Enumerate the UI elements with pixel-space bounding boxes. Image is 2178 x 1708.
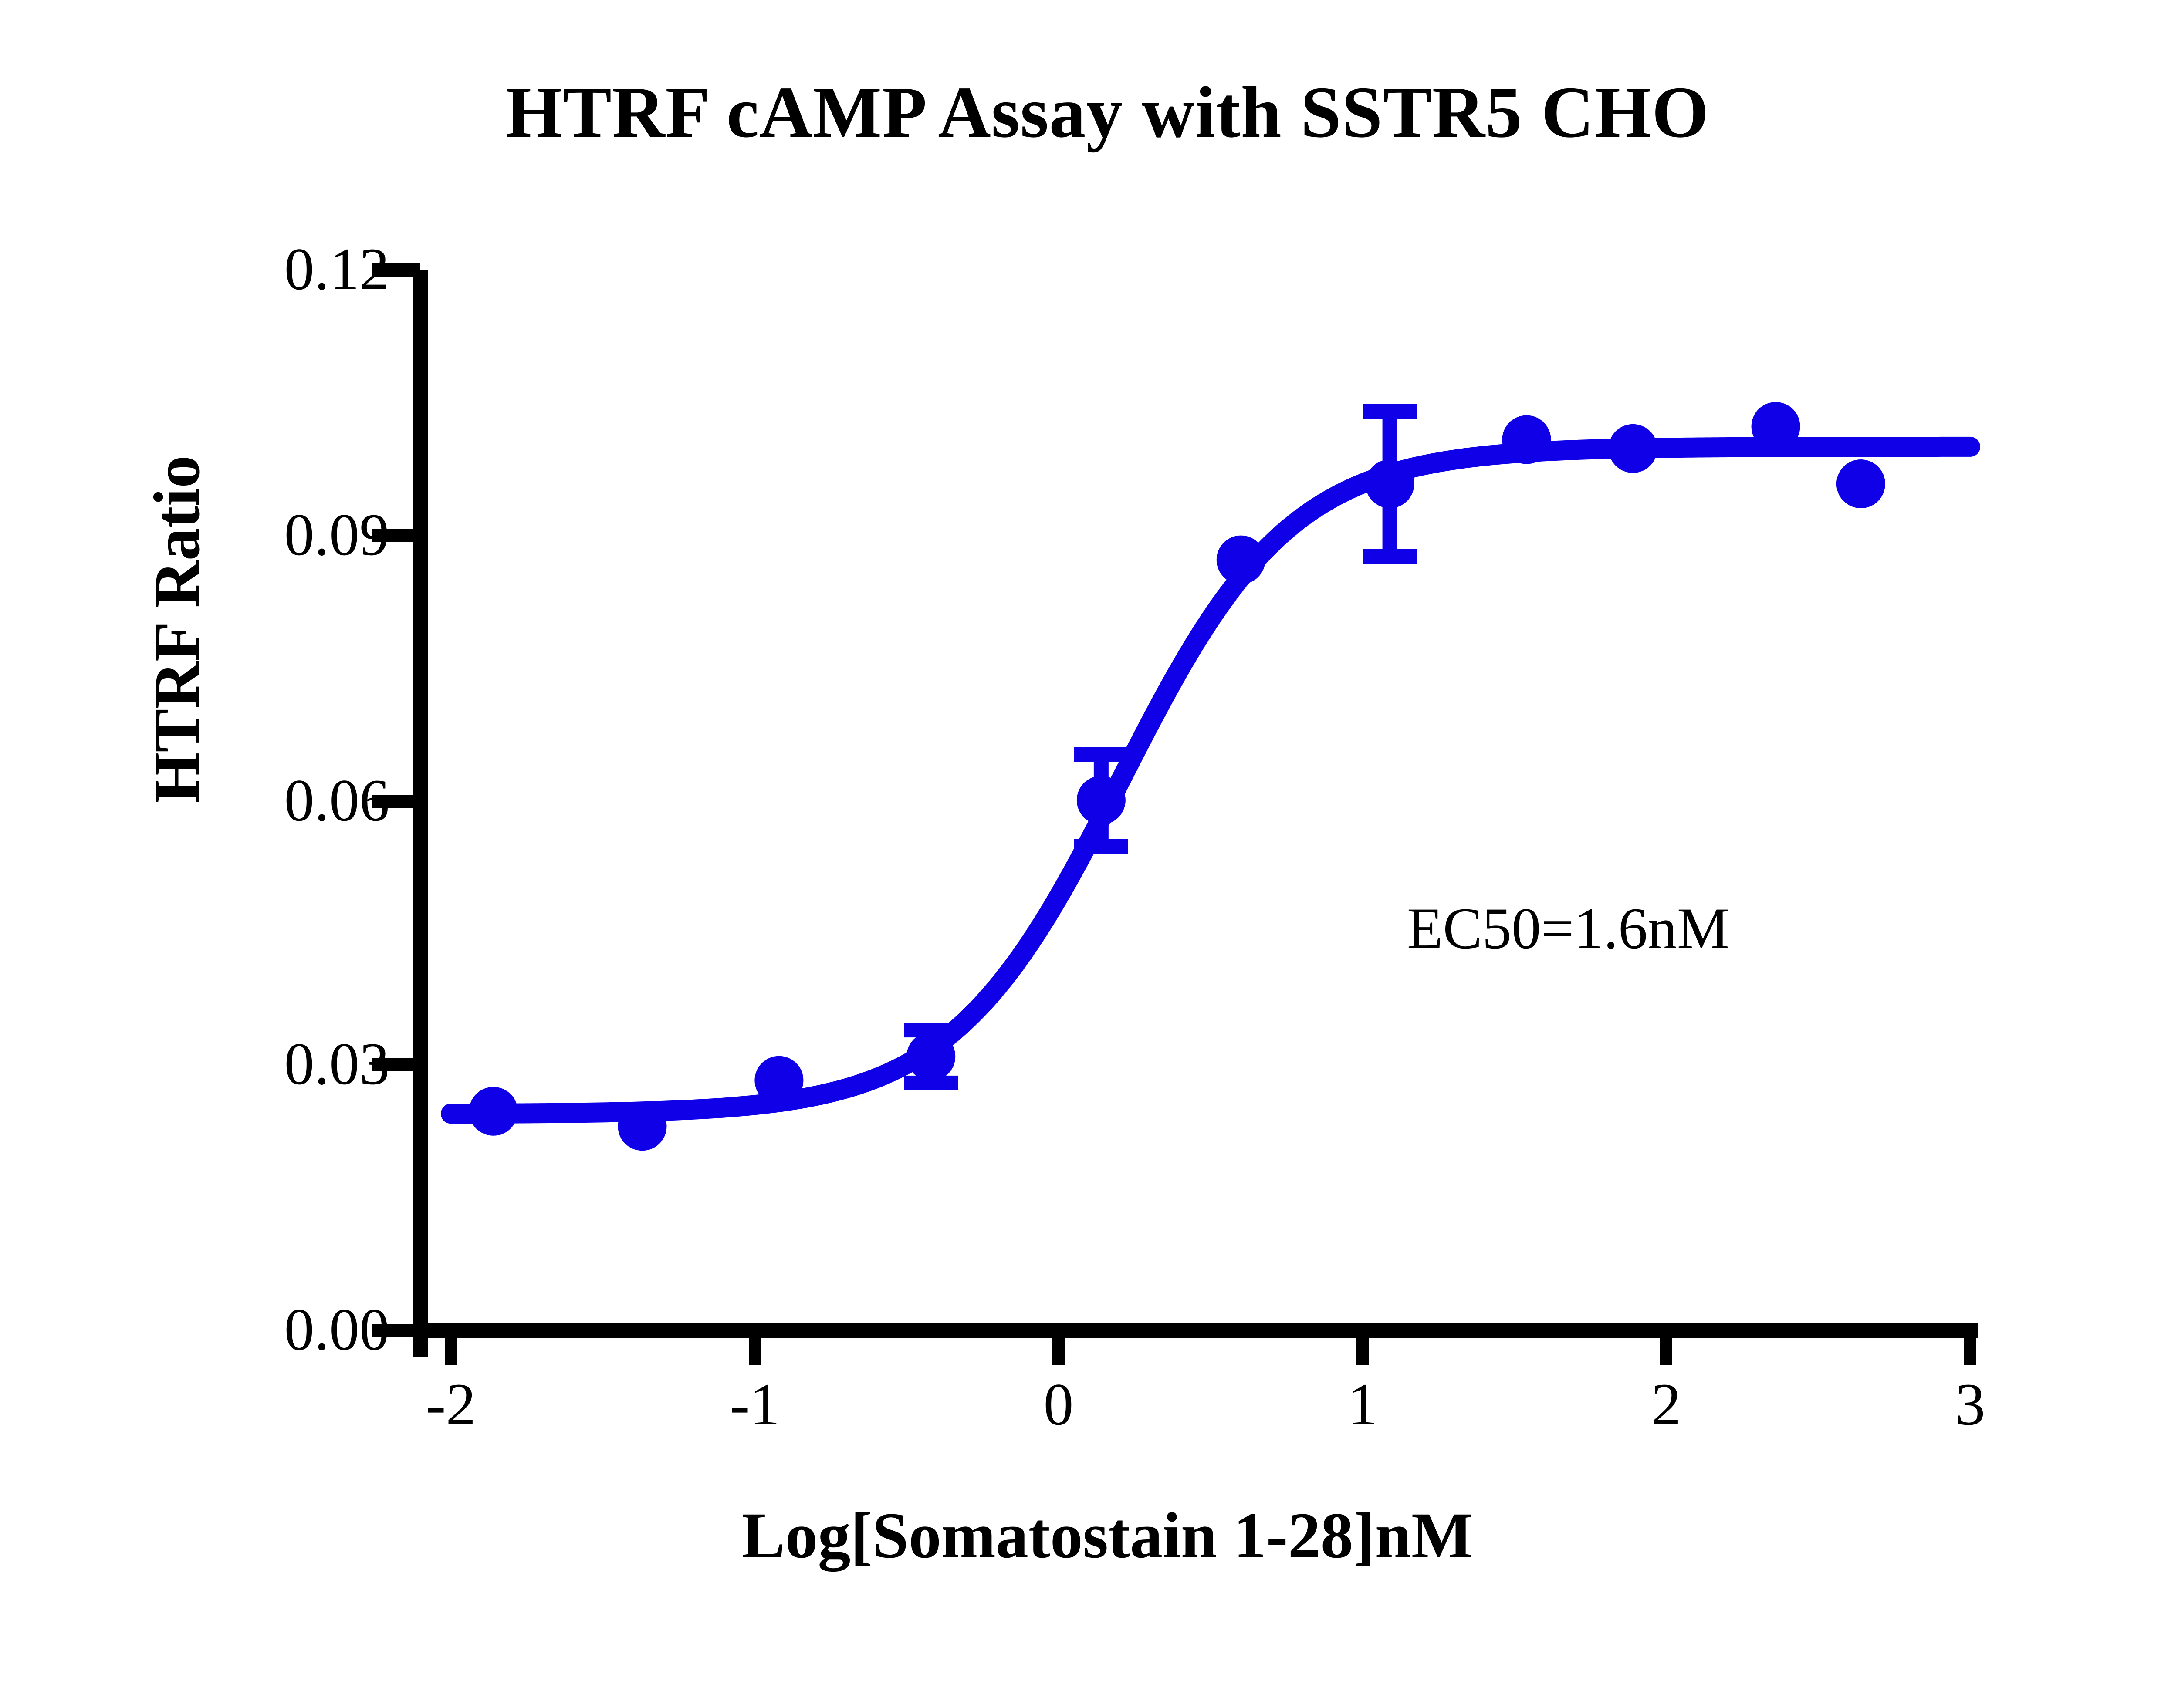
data-point [1752, 402, 1800, 451]
data-point [469, 1087, 518, 1136]
data-point [618, 1102, 666, 1151]
chart-figure: HTRF cAMP Assay with SSTR5 CHO HTRF Rati… [0, 0, 2178, 1708]
fit-curve [451, 447, 1970, 1114]
data-point [1609, 424, 1657, 473]
data-point [754, 1056, 803, 1105]
data-point [1836, 459, 1885, 508]
data-point [1077, 776, 1126, 825]
data-point [1217, 536, 1265, 584]
data-point [1502, 415, 1551, 464]
error-bars [904, 412, 1417, 1083]
axes [372, 270, 1978, 1365]
data-points [469, 402, 1885, 1151]
data-point [1366, 459, 1414, 508]
plot-canvas [0, 0, 2178, 1708]
data-point [906, 1032, 955, 1081]
